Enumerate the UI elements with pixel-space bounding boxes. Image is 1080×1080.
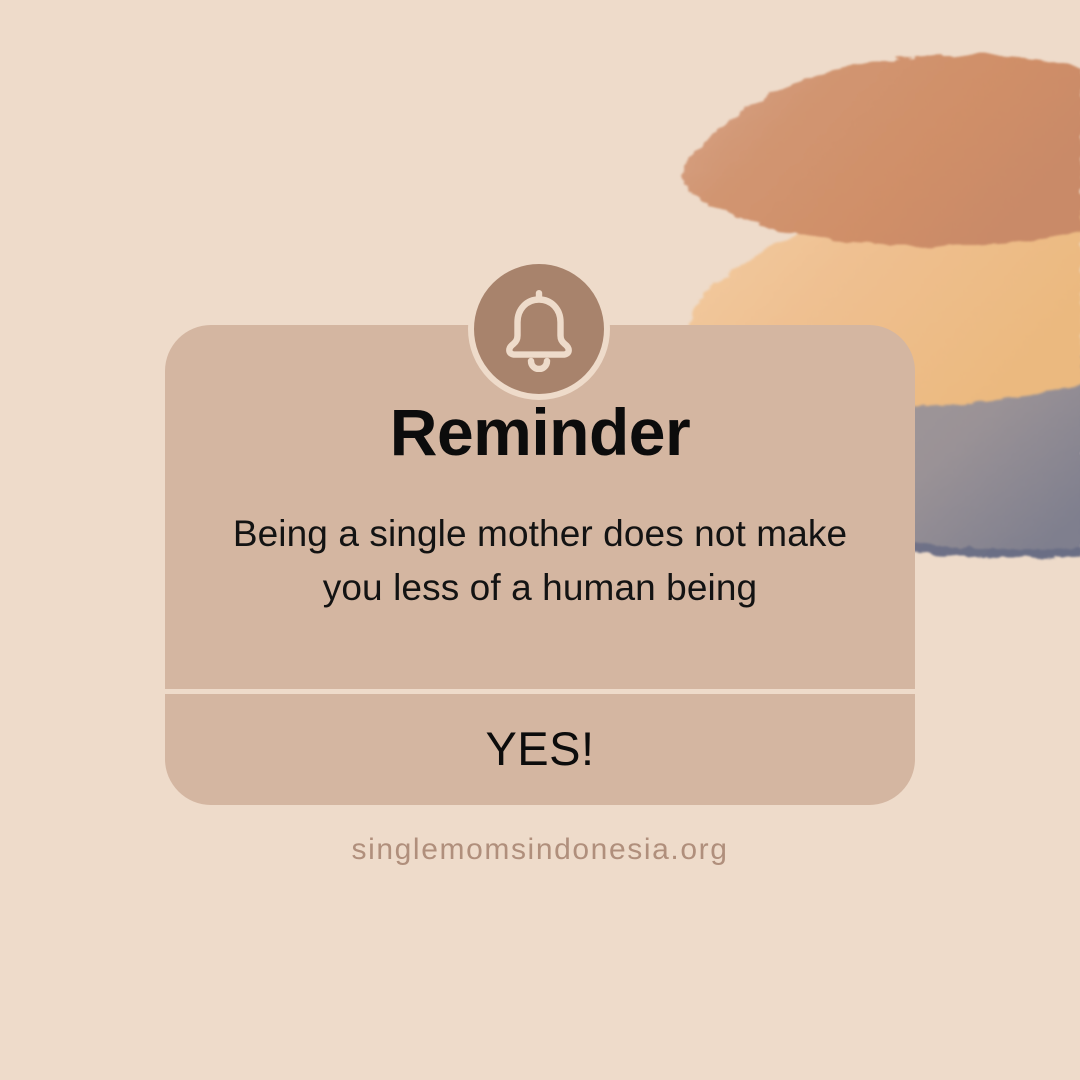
yes-button[interactable]: YES! [165, 694, 915, 805]
bell-icon [496, 286, 582, 372]
poster-canvas: Reminder Being a single mother does not … [0, 0, 1080, 1080]
footer-url: singlemomsindonesia.org [0, 833, 1080, 867]
card-title: Reminder [390, 399, 690, 465]
terracotta-stroke [681, 55, 1080, 247]
bell-badge [468, 258, 610, 400]
card-message: Being a single mother does not make you … [200, 507, 880, 614]
yes-button-label: YES! [485, 721, 594, 776]
